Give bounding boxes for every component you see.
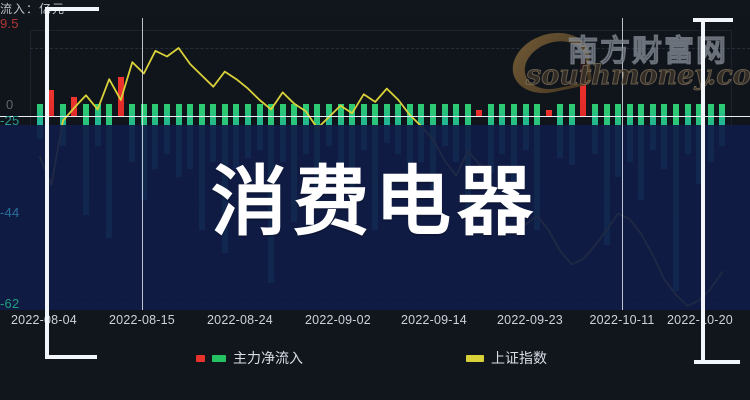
x-tick-label: 2022-08-24 bbox=[207, 313, 273, 327]
zero-baseline bbox=[0, 116, 750, 117]
y-tick-label: -62 bbox=[0, 296, 19, 311]
x-tick-label: 2022-09-23 bbox=[497, 313, 563, 327]
legend-item-shanghai-index[interactable]: 上证指数 bbox=[466, 348, 547, 368]
x-tick-label: 2022-08-04 bbox=[11, 313, 77, 327]
chart-legend: 主力净流入 上证指数 bbox=[0, 348, 750, 378]
y-tick-label: 0 bbox=[6, 97, 13, 112]
y-tick-label: -44 bbox=[0, 205, 19, 220]
y-tick-label: -25 bbox=[0, 113, 19, 128]
x-tick-label: 2022-10-11 bbox=[589, 313, 654, 327]
x-axis: 2022-08-042022-08-152022-08-242022-09-02… bbox=[0, 313, 750, 335]
legend-label: 上证指数 bbox=[491, 348, 547, 368]
y-axis-unit-caption: 流入：亿元 bbox=[0, 0, 65, 17]
x-tick-label: 2022-08-15 bbox=[109, 313, 175, 327]
x-tick-label: 2022-09-14 bbox=[401, 313, 467, 327]
legend-swatch-green-icon bbox=[212, 355, 226, 362]
page-title: 消费电器 bbox=[0, 160, 750, 244]
chart-screenshot: 流入：亿元 9.5 0 -25 -44 -62 消费电器 南方财富网 south… bbox=[0, 0, 750, 400]
legend-label: 主力净流入 bbox=[233, 348, 303, 368]
legend-swatch-yellow-icon bbox=[466, 355, 484, 362]
x-tick-label: 2022-09-02 bbox=[305, 313, 371, 327]
legend-swatch-red-icon bbox=[196, 355, 205, 362]
y-tick-label: 9.5 bbox=[0, 16, 19, 31]
x-tick-label: 2022-10-20 bbox=[667, 313, 733, 327]
legend-item-main-net-inflow[interactable]: 主力净流入 bbox=[196, 348, 303, 368]
